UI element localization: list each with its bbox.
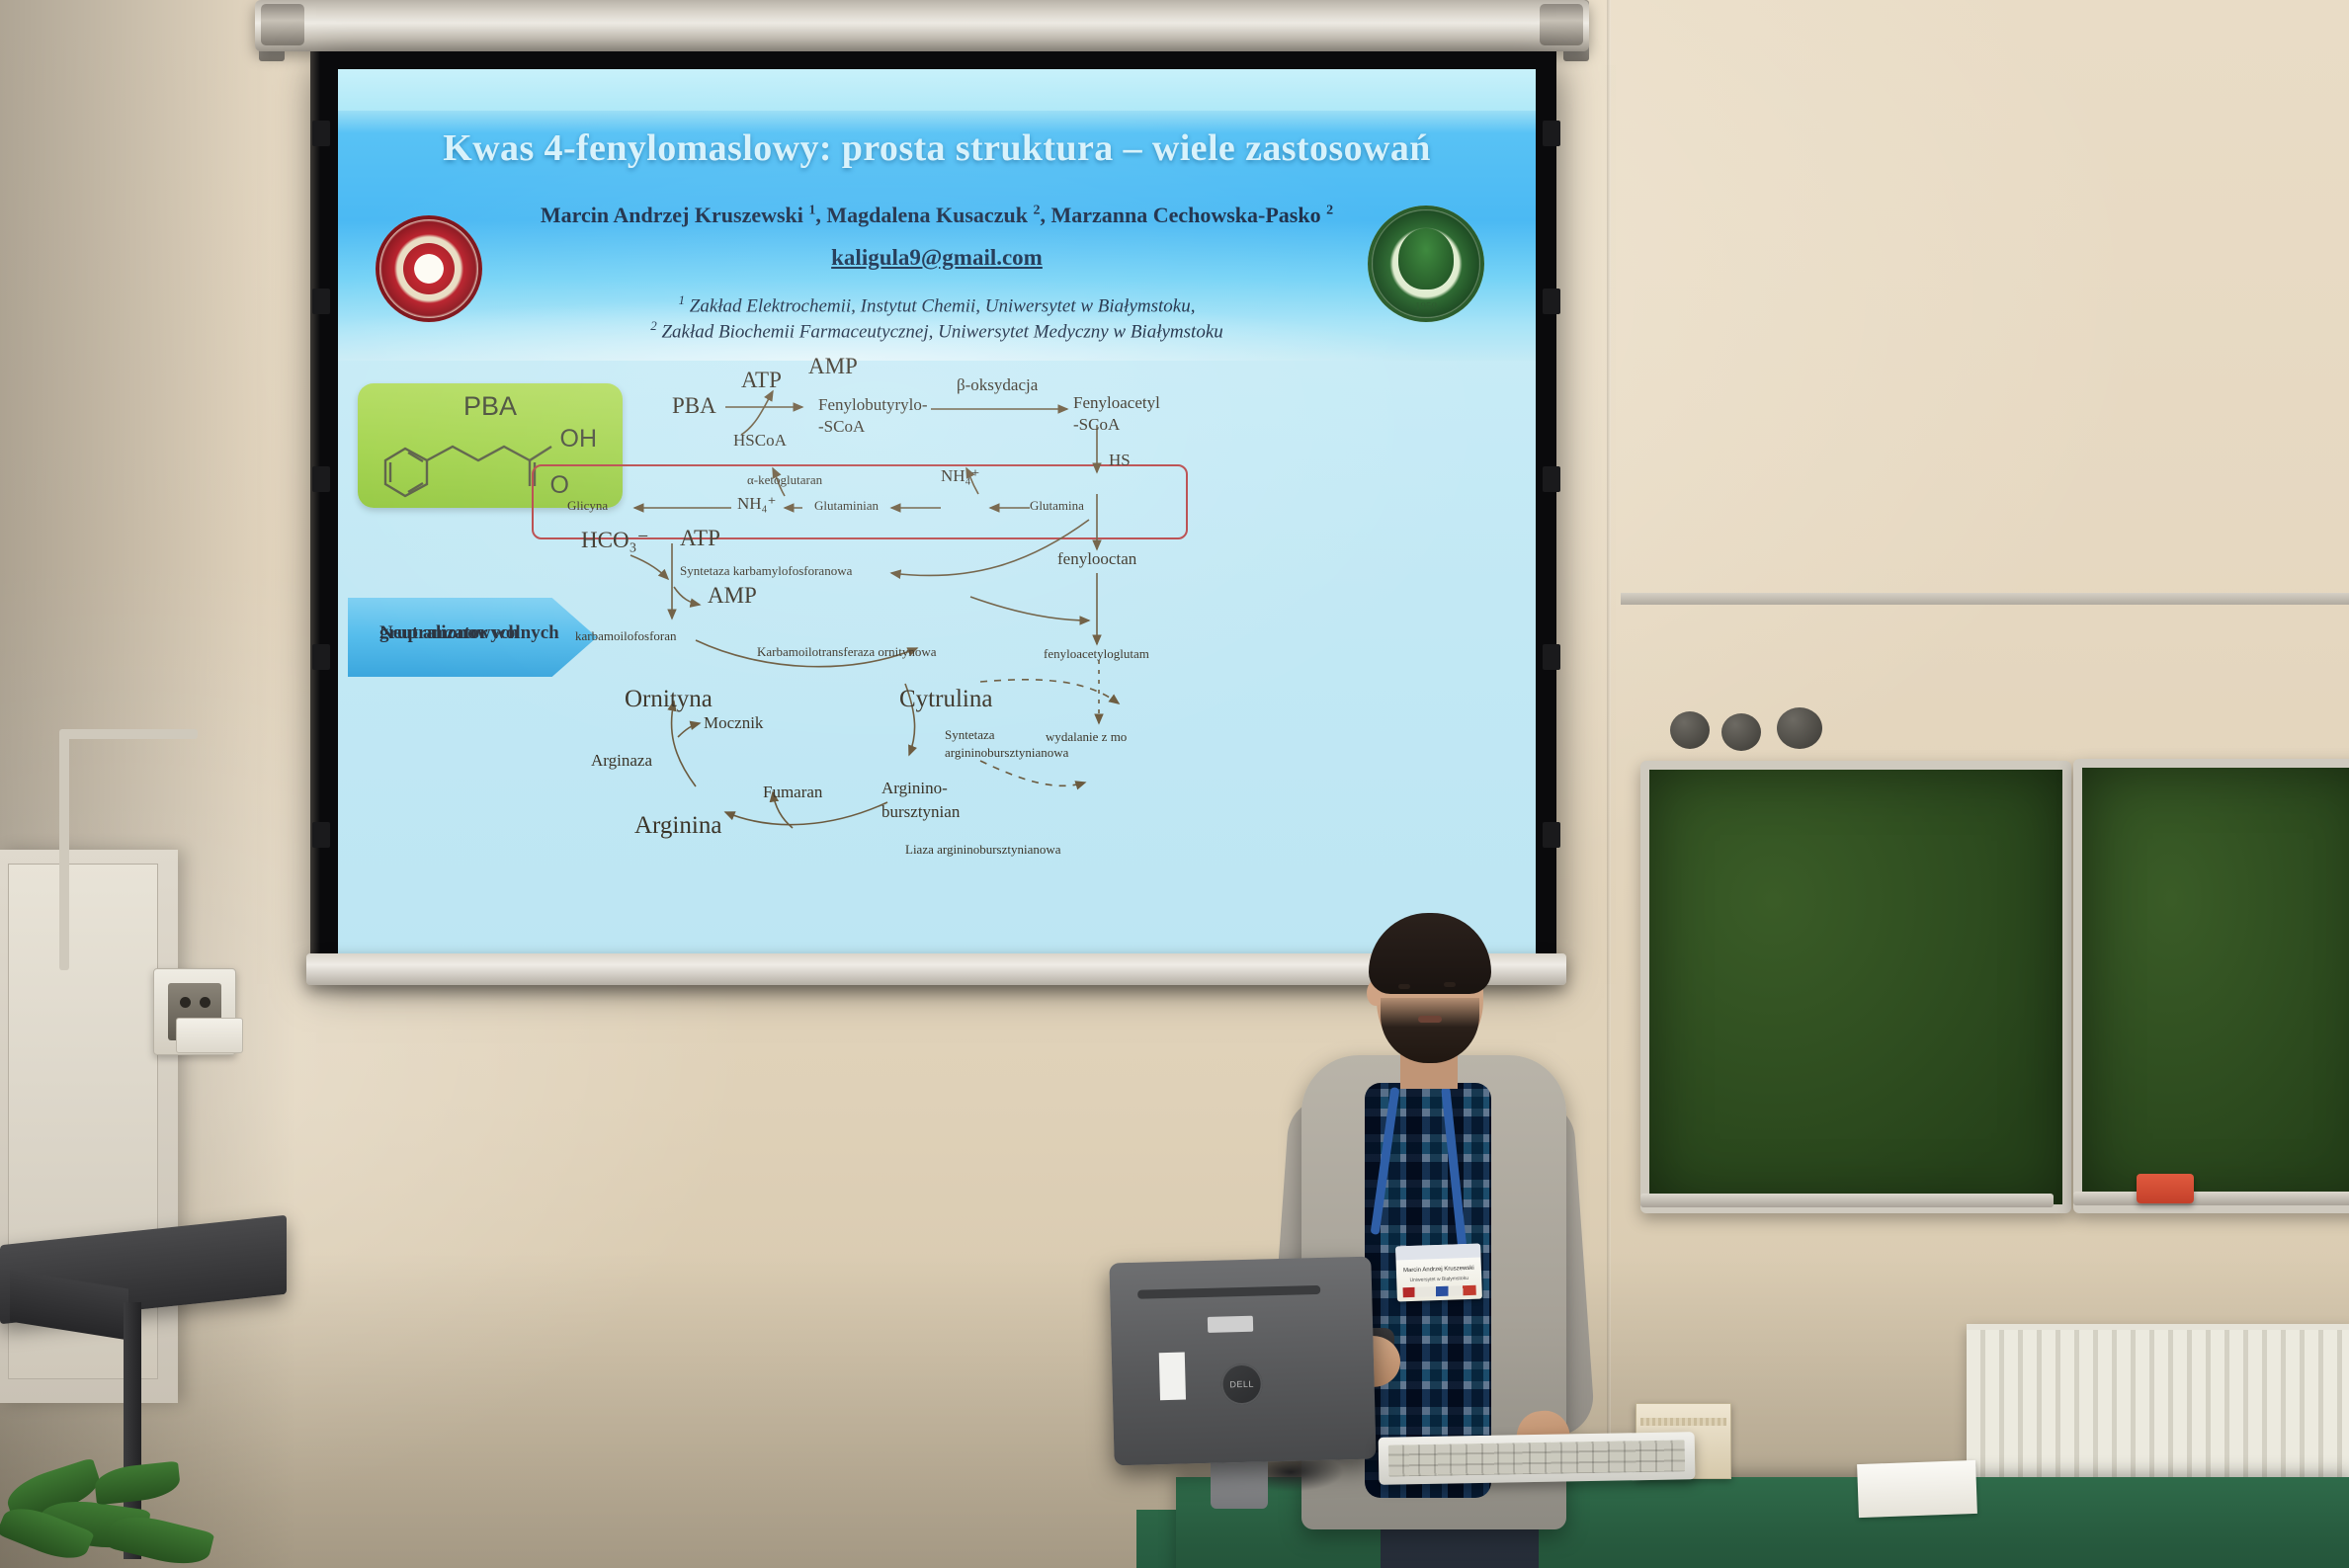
affiliation-1: 1 Zakład Elektrochemii, Instytut Chemii,…: [338, 292, 1536, 317]
wall-seam: [1607, 0, 1611, 1568]
projector-screen: Kwas 4-fenylomaslowy: prosta struktura –…: [316, 51, 1556, 970]
label-glicyna: Glicyna: [567, 498, 608, 514]
label-glutaminian: Glutaminian: [814, 498, 879, 514]
medical-university-logo-icon: 1950: [1368, 206, 1484, 322]
label-pba: PBA: [672, 393, 716, 419]
label-wydalanie-z-moczem: wydalanie z mo: [1046, 729, 1127, 745]
label-fenylobutyrylo-scoa-2: -SCoA: [818, 417, 865, 437]
label-ornityna: Ornityna: [625, 686, 713, 713]
presenter-eye-right: [1444, 982, 1456, 987]
label-fenylooctan: fenylooctan: [1057, 549, 1136, 569]
label-nh4-a: NH₄⁺: [737, 494, 776, 514]
label-argininobursztynian-2: bursztynian: [881, 802, 960, 822]
label-hco3: HCO₃⁻: [581, 528, 649, 553]
presenter-beard: [1381, 998, 1479, 1063]
slide-title: Kwas 4-fenylomaslowy: prosta struktura –…: [338, 126, 1536, 170]
label-alfa-ketoglutaran: α-ketoglutaran: [747, 472, 822, 488]
author-1: Marcin Andrzej Kruszewski: [541, 203, 809, 227]
wall-conduit-horizontal: [59, 729, 198, 739]
magnet-2[interactable]: [1721, 713, 1761, 751]
label-syntetaza-karbamylofosforanowa: Syntetaza karbamylofosforanowa: [680, 563, 852, 579]
pba-oh-label: OH: [560, 425, 598, 454]
affiliation-1-text: Zakład Elektrochemii, Instytut Chemii, U…: [685, 295, 1195, 316]
conference-badge: Marcin Andrzej Kruszewski Uniwersytet w …: [1395, 1244, 1482, 1302]
author-3: , Marzanna Cechowska-Pasko: [1040, 203, 1326, 227]
keyboard[interactable]: [1379, 1432, 1696, 1485]
lecture-hall-photo: Kwas 4-fenylomaslowy: prosta struktura –…: [0, 0, 2349, 1568]
author-2: , Magdalena Kusaczuk: [815, 203, 1033, 227]
label-amp: AMP: [808, 354, 858, 379]
label-atp-2: ATP: [680, 526, 720, 551]
label-karbamoilofosforan: karbamoilofosforan: [575, 628, 677, 644]
label-cytrulina: Cytrulina: [899, 686, 992, 713]
label-mocznik: Mocznik: [704, 713, 763, 733]
presenter-eye-left: [1398, 984, 1410, 989]
chalkboard-right[interactable]: [2073, 759, 2349, 1213]
badge-name: Marcin Andrzej Kruszewski: [1396, 1266, 1481, 1275]
label-syntetaza-argininobursztynianowa-2: argininobursztynianowa: [945, 745, 1068, 761]
badge-header: [1395, 1244, 1480, 1261]
eagle-emblem-icon: [403, 243, 455, 294]
label-arginaza: Arginaza: [591, 751, 652, 771]
label-karbamoilotransferaza: Karbamoilotransferaza ornitynowa: [757, 644, 937, 660]
label-fumaran: Fumaran: [763, 783, 822, 802]
label-fenyloacetyl-scoa-1: Fenyloacetyl: [1073, 393, 1160, 413]
contact-email[interactable]: kaligula9@gmail.com: [338, 245, 1536, 271]
tree-emblem-icon: [1398, 228, 1454, 289]
affiliation-2-text: Zakład Biochemii Farmaceutycznej, Uniwer…: [657, 321, 1223, 342]
radiator: [1967, 1324, 2349, 1478]
label-nh4-b: NH₄⁺: [941, 466, 979, 486]
chalk-tray-left: [1640, 1194, 2054, 1207]
label-hscoa: HSCoA: [733, 431, 787, 451]
monitor-label: [1208, 1316, 1253, 1333]
board-eraser[interactable]: [2137, 1174, 2194, 1203]
magnet-1[interactable]: [1670, 711, 1710, 749]
label-atp: ATP: [741, 368, 782, 393]
logo-year: 1950: [1368, 300, 1484, 312]
author-3-sup: 2: [1326, 204, 1333, 218]
label-beta-oksydacja: β-oksydacja: [957, 375, 1038, 395]
label-liaza-argininobursztynianowa: Liaza argininobursztynianowa: [905, 842, 1061, 858]
wall-conduit-vertical: [59, 733, 69, 970]
light-switch[interactable]: [176, 1018, 243, 1053]
wall-rail: [1621, 593, 2349, 605]
affiliation-2: 2 Zakład Biochemii Farmaceutycznej, Uniw…: [338, 318, 1536, 343]
dell-logo-icon: [1220, 1362, 1263, 1405]
slide-header-topband: [338, 69, 1536, 111]
badge-affiliation: Uniwersytet w Białymstoku: [1396, 1275, 1481, 1283]
monitor-vent: [1137, 1285, 1320, 1299]
magnet-3[interactable]: [1777, 707, 1822, 749]
label-glutamina: Glutamina: [1030, 498, 1084, 514]
university-bialystok-logo-icon: [376, 215, 482, 322]
callout-text: Neutralizator wolnychgrup amonowych: [364, 610, 551, 633]
callout-arrow: Neutralizator wolnychgrup amonowych: [348, 598, 597, 677]
label-argininobursztynian-1: Arginino-: [881, 779, 948, 798]
presenter-mouth: [1418, 1016, 1442, 1023]
dell-monitor-back[interactable]: [1109, 1257, 1376, 1466]
potted-plant: [0, 1438, 227, 1568]
label-hs: HS: [1109, 451, 1131, 470]
paper-sheet[interactable]: [1857, 1460, 1977, 1518]
chalkboard-left[interactable]: [1640, 761, 2071, 1213]
chalk-tray-right: [2073, 1192, 2349, 1205]
presentation-slide: Kwas 4-fenylomaslowy: prosta struktura –…: [338, 69, 1536, 954]
label-fenyloacetyloglutamina: fenyloacetyloglutam: [1044, 646, 1149, 662]
slide-authors: Marcin Andrzej Kruszewski 1, Magdalena K…: [338, 203, 1536, 228]
projector-screen-roller[interactable]: [255, 0, 1589, 51]
label-fenylobutyrylo-scoa-1: Fenylobutyrylo-: [818, 395, 928, 415]
presenter-hair: [1369, 913, 1491, 994]
badge-sponsor-logos-icon: [1403, 1285, 1476, 1298]
label-syntetaza-argininobursztynianowa-1: Syntetaza: [945, 727, 995, 743]
monitor-asset-sticker: [1159, 1353, 1186, 1401]
label-amp-2: AMP: [708, 583, 757, 609]
label-arginina: Arginina: [634, 812, 721, 840]
label-fenyloacetyl-scoa-2: -SCoA: [1073, 415, 1120, 435]
